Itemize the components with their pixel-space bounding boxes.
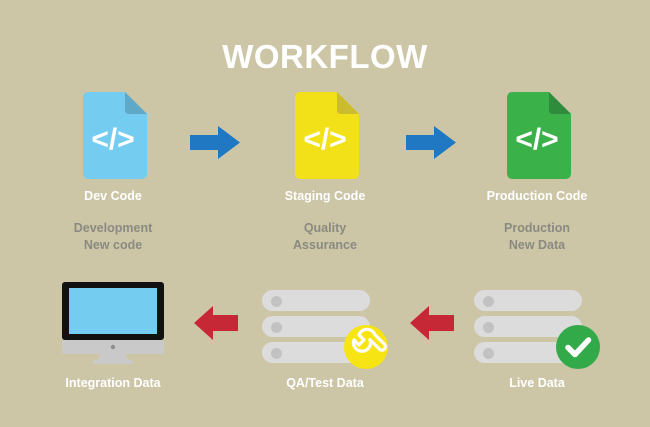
code-document-icon: </> — [79, 92, 147, 179]
code-document-icon: </> — [503, 92, 571, 179]
code-glyph: </> — [303, 123, 346, 156]
node-production-code[interactable]: </> Production Code Production New Data — [457, 92, 617, 254]
sublabel-line-1: Quality — [245, 220, 405, 237]
arrow-qa-to-integration — [194, 306, 238, 345]
server-bar — [474, 290, 582, 311]
node-live-data[interactable]: Live Data — [457, 282, 617, 391]
node-staging-code[interactable]: </> Staging Code Quality Assurance — [245, 92, 405, 254]
arrow-dev-to-staging — [190, 125, 240, 165]
server-indicator-dot — [271, 322, 282, 333]
code-document-icon-dev: </> — [79, 92, 147, 179]
server-stack-icon-qa — [262, 282, 388, 362]
node-label-dev-code: Dev Code — [33, 189, 193, 204]
sublabel-line-2: Assurance — [245, 237, 405, 254]
workflow-diagram: WORKFLOW </> Dev Code Development New co… — [0, 0, 650, 427]
server-bar — [262, 290, 370, 311]
node-sublabel-staging-code: Quality Assurance — [245, 220, 405, 254]
arrow-staging-to-production — [406, 125, 456, 165]
server-indicator-dot — [483, 348, 494, 359]
server-indicator-dot — [483, 322, 494, 333]
code-document-icon: </> — [291, 92, 359, 179]
node-label-live-data: Live Data — [457, 376, 617, 391]
arrow-live-to-qa — [410, 306, 454, 345]
arrow-right-icon — [190, 125, 240, 160]
sublabel-line-2: New Data — [457, 237, 617, 254]
code-glyph: </> — [91, 123, 134, 156]
node-integration-data[interactable]: Integration Data — [33, 282, 193, 391]
server-indicator-dot — [483, 296, 494, 307]
code-glyph: </> — [515, 123, 558, 156]
arrow-left-icon — [410, 306, 454, 340]
node-label-qa-test-data: QA/Test Data — [245, 376, 405, 391]
node-qa-test-data[interactable]: QA/Test Data — [245, 282, 405, 391]
node-label-staging-code: Staging Code — [245, 189, 405, 204]
status-badge-check — [556, 325, 600, 369]
sublabel-line-2: New code — [33, 237, 193, 254]
sublabel-line-1: Production — [457, 220, 617, 237]
node-sublabel-production-code: Production New Data — [457, 220, 617, 254]
server-stack-icon-live — [474, 282, 600, 362]
wrench-icon — [344, 325, 388, 369]
check-icon — [556, 325, 600, 369]
monitor-icon-integration — [61, 282, 165, 364]
node-label-integration-data: Integration Data — [33, 376, 193, 391]
status-badge-wrench — [344, 325, 388, 369]
sublabel-line-1: Development — [33, 220, 193, 237]
server-indicator-dot — [271, 348, 282, 359]
server-indicator-dot — [271, 296, 282, 307]
arrow-right-icon — [406, 125, 456, 160]
arrow-left-icon — [194, 306, 238, 340]
monitor-icon — [61, 282, 165, 364]
node-dev-code[interactable]: </> Dev Code Development New code — [33, 92, 193, 254]
node-label-production-code: Production Code — [457, 189, 617, 204]
code-document-icon-production: </> — [503, 92, 571, 179]
node-sublabel-dev-code: Development New code — [33, 220, 193, 254]
code-document-icon-staging: </> — [291, 92, 359, 179]
page-title: WORKFLOW — [0, 40, 650, 73]
